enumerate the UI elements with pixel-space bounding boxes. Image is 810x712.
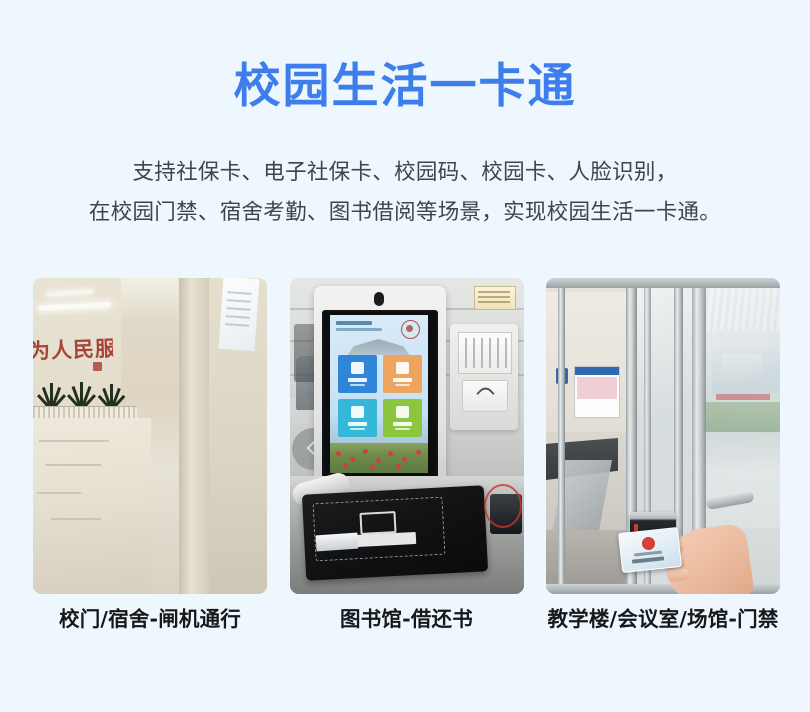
- kiosk-screen-subtitle: [336, 328, 382, 331]
- access-card[interactable]: [618, 527, 682, 573]
- book-icon: [359, 511, 396, 535]
- subtitle-line-2: 在校园门禁、宿舍考勤、图书借阅等场景，实现校园生活一卡通。: [0, 193, 810, 233]
- page-root: 校园生活一卡通 支持社保卡、电子社保卡、校园码、校园卡、人脸识别， 在校园门禁、…: [0, 0, 810, 712]
- gate-pillar: [179, 278, 209, 594]
- kiosk-seal-icon: [401, 320, 420, 339]
- page-title: 校园生活一卡通: [0, 58, 810, 116]
- kiosk-menu-tiles: [338, 355, 422, 437]
- kiosk-screen-content: [330, 315, 428, 473]
- gallery-card-gate[interactable]: 为人民服务: [33, 278, 267, 594]
- photo-library-kiosk: [290, 278, 524, 594]
- lobby-plants: [35, 376, 131, 410]
- side-instruction-board: [458, 332, 512, 374]
- caption-door-access: 教学楼/会议室/场馆-门禁: [546, 604, 780, 634]
- gallery-card-door-access[interactable]: [546, 278, 780, 594]
- gallery-captions: 校门/宿舍-闸机通行 图书馆-借还书 教学楼/会议室/场馆-门禁: [33, 604, 780, 634]
- photo-door-access: [546, 278, 780, 594]
- door-frame-left: [558, 278, 565, 594]
- photo-campus-gate: 为人民服务: [33, 278, 267, 594]
- kiosk-tile-account[interactable]: [383, 399, 422, 437]
- reader-status-led-icon: [634, 524, 638, 531]
- kiosk-tile-return[interactable]: [383, 355, 422, 393]
- kiosk-touchscreen[interactable]: [322, 310, 438, 478]
- kiosk-screen-title: [336, 321, 372, 325]
- highlight-circle-annotation: [484, 484, 522, 528]
- notice-board: [574, 366, 620, 418]
- side-card-reader[interactable]: [462, 380, 508, 412]
- kiosk-tile-borrow[interactable]: [338, 355, 377, 393]
- kiosk-tile-search[interactable]: [338, 399, 377, 437]
- kiosk-side-panel[interactable]: [450, 324, 518, 430]
- door-frame-top: [546, 278, 780, 288]
- page-subtitle: 支持社保卡、电子社保卡、校园码、校园卡、人脸识别， 在校园门禁、宿舍考勤、图书借…: [0, 153, 810, 233]
- gallery-card-library[interactable]: [290, 278, 524, 594]
- caption-gate: 校门/宿舍-闸机通行: [33, 604, 267, 634]
- kiosk-gate-illustration: [348, 339, 410, 355]
- subtitle-line-1: 支持社保卡、电子社保卡、校园码、校园卡、人脸识别，: [0, 153, 810, 193]
- library-poster: [474, 286, 516, 310]
- calligraphy-seal-icon: [93, 362, 102, 371]
- kiosk-flower-banner: [330, 443, 428, 473]
- lobby-floor: [33, 418, 151, 594]
- wall-notice-paper: [219, 278, 260, 351]
- placed-book: [315, 533, 358, 552]
- caption-library: 图书馆-借还书: [290, 604, 524, 634]
- gallery: 为人民服务: [33, 278, 780, 594]
- library-self-service-kiosk[interactable]: [314, 286, 446, 486]
- kiosk-camera-icon: [374, 292, 384, 306]
